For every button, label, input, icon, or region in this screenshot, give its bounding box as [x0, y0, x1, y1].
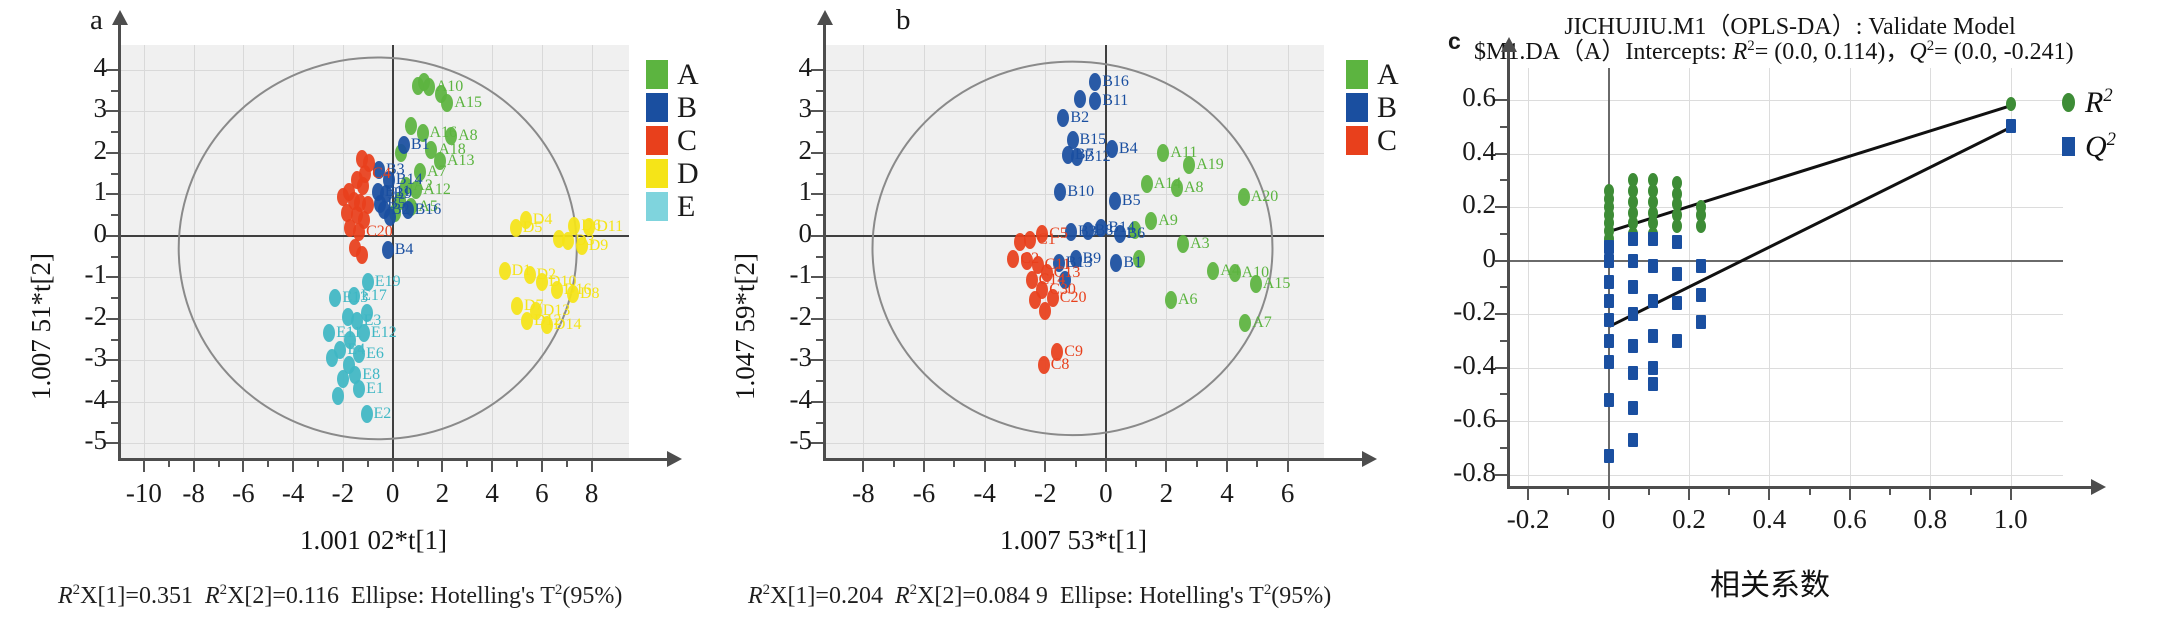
perm-point-Q2 [1604, 355, 1614, 369]
x-axis-arrow [667, 451, 682, 467]
y-tick-label: 0 [744, 218, 812, 249]
regression-line-Q2 [1609, 126, 2012, 328]
y-tick-major [811, 235, 823, 237]
y-tick-label: 2 [39, 135, 107, 166]
perm-point-Q2 [1696, 315, 1706, 329]
x-tick-major [1226, 460, 1228, 472]
y-tick-major [1495, 153, 1507, 155]
data-point-D [510, 219, 522, 237]
grid-line-horizontal [1508, 421, 2063, 422]
y-tick-label: -0.2 [1403, 296, 1496, 327]
panel-b-plot-area: A11A19A14A8A20A9A3A4A10A15A6A7B16B11B2B1… [824, 45, 1324, 460]
hotelling-ellipse [119, 45, 629, 460]
y-tick-label: -1 [39, 259, 107, 290]
y-tick-label: 0.2 [1403, 189, 1496, 220]
y-tick-major [106, 318, 118, 320]
grid-line-vertical [1528, 68, 1529, 488]
perm-point-Q2 [1604, 313, 1614, 327]
data-point-D [562, 232, 574, 250]
y-tick-minor [816, 380, 823, 382]
y-tick-minor [816, 214, 823, 216]
data-point-label: B6 [1127, 226, 1146, 242]
panel-a-legend-swatch-A [646, 60, 668, 89]
data-point-label: A7 [1252, 315, 1272, 331]
perm-point-R2 [1672, 219, 1682, 233]
x-tick-label: 0.8 [1885, 504, 1975, 535]
y-axis-arrow [1501, 37, 1517, 52]
panel-c-intercepts-r-sym: R [1733, 39, 1748, 65]
data-point-label: B11 [1102, 93, 1128, 109]
x-tick-minor [893, 460, 895, 467]
panel-b-caption-r2-post: X[2]=0.084 9 [917, 583, 1048, 609]
panel-a-legend-item-E[interactable]: E [646, 190, 699, 223]
x-tick-major [1849, 488, 1851, 500]
x-tick-minor [1014, 460, 1016, 467]
perm-point-Q2 [1648, 361, 1658, 375]
y-tick-major [811, 359, 823, 361]
x-tick-minor [168, 460, 170, 467]
panel-b: b A11A19A14A8A20A9A3A4A10A15A6A7B16B11B2… [700, 0, 1400, 628]
x-tick-major [862, 460, 864, 472]
y-tick-major [811, 110, 823, 112]
panel-a-legend-item-A[interactable]: A [646, 58, 699, 91]
x-tick-minor [466, 460, 468, 467]
data-point-label: C4 [372, 166, 391, 182]
panel-b-legend-item-B[interactable]: B [1346, 91, 1399, 124]
y-tick-minor [111, 380, 118, 382]
y-tick-label: 4 [744, 52, 812, 83]
y-tick-minor [1500, 286, 1507, 288]
data-point-label: C20 [366, 224, 393, 240]
data-point-B [1095, 219, 1107, 237]
panel-a-caption: R2X[1]=0.351 R2X[2]=0.116 Ellipse: Hotel… [58, 582, 622, 610]
panel-b-legend: ABC [1346, 58, 1399, 157]
y-tick-label: -1 [744, 259, 812, 290]
panel-a-caption-r1-post: X[1]=0.351 [80, 583, 193, 609]
x-tick-label: 0.6 [1805, 504, 1895, 535]
y-tick-label: -5 [39, 425, 107, 456]
panel-b-caption-r2-sup: 2 [910, 582, 917, 598]
grid-line-vertical [1850, 68, 1851, 488]
data-point-C [1038, 356, 1050, 374]
data-point-label: E2 [374, 406, 392, 422]
zero-line-horizontal [1508, 260, 2063, 262]
panel-c-intercepts-r-val: = (0.0, 0.114)， [1755, 39, 1910, 65]
perm-point-Q2 [1628, 280, 1638, 294]
panel-b-caption-r2-sym: R [895, 583, 910, 609]
data-point-C [1039, 302, 1051, 320]
y-tick-major [1495, 206, 1507, 208]
x-axis-line [1507, 486, 2092, 489]
panel-a-caption-ellipse-pre: Ellipse: Hotelling's T [351, 583, 555, 609]
x-tick-minor [1809, 488, 1811, 495]
x-tick-major [1105, 460, 1107, 472]
x-tick-major [1929, 488, 1931, 500]
data-point-D [536, 273, 548, 291]
x-tick-major [923, 460, 925, 472]
data-point-label: A12 [423, 182, 451, 198]
x-tick-major [541, 460, 543, 472]
panel-a-legend-item-C[interactable]: C [646, 124, 699, 157]
grid-line-horizontal [1508, 207, 2063, 208]
panel-c-legend-sup-Q: 2 [2107, 129, 2116, 150]
x-tick-label: 8 [552, 478, 632, 509]
panel-b-legend-swatch-B [1346, 93, 1368, 122]
panel-a-legend-label-C: C [677, 126, 697, 156]
x-tick-minor [417, 460, 419, 467]
data-point-label: D5 [523, 220, 543, 236]
y-tick-major [1495, 367, 1507, 369]
y-tick-major [811, 401, 823, 403]
y-tick-label: -4 [39, 384, 107, 415]
data-point-B [402, 201, 414, 219]
data-point-C [1036, 225, 1048, 243]
x-axis-line [823, 458, 1363, 461]
y-axis-arrow [112, 10, 128, 25]
y-tick-major [811, 193, 823, 195]
y-tick-major [811, 318, 823, 320]
figure-root: a A10A15A16A8A18A13A7A2A12A5B1B3B14B11B9… [0, 0, 2163, 628]
data-point-B [1082, 222, 1094, 240]
y-tick-major [106, 401, 118, 403]
panel-b-caption-r1-sup: 2 [763, 582, 770, 598]
data-point-D [524, 266, 536, 284]
x-tick-minor [953, 460, 955, 467]
x-tick-minor [566, 460, 568, 467]
y-tick-label: -4 [744, 384, 812, 415]
x-tick-minor [267, 460, 269, 467]
data-point-E [361, 405, 373, 423]
perm-point-Q2 [1672, 267, 1682, 281]
panel-c-legend-item-R[interactable]: R2 [2062, 80, 2116, 124]
perm-point-Q2 [1672, 235, 1682, 249]
y-axis-arrow [817, 10, 833, 25]
x-tick-minor [218, 460, 220, 467]
x-tick-minor [1889, 488, 1891, 495]
x-tick-major [1287, 460, 1289, 472]
perm-point-Q2 [1648, 232, 1658, 246]
grid-line-vertical [1689, 68, 1690, 488]
panel-c-plot-area [1508, 68, 2063, 488]
y-tick-label: 2 [744, 135, 812, 166]
data-point-D [576, 237, 588, 255]
grid-line-horizontal [1508, 475, 2063, 476]
x-tick-major [1527, 488, 1529, 500]
data-point-label: A3 [1190, 236, 1210, 252]
perm-point-Q2 [1628, 401, 1638, 415]
perm-point-Q2 [1696, 288, 1706, 302]
y-tick-minor [1500, 179, 1507, 181]
y-tick-major [106, 235, 118, 237]
data-point-C [357, 177, 369, 195]
x-tick-minor [1075, 460, 1077, 467]
data-point-C [1024, 231, 1036, 249]
y-tick-label: -2 [744, 301, 812, 332]
data-point-E [326, 349, 338, 367]
y-tick-major [106, 69, 118, 71]
panel-a-legend-swatch-C [646, 126, 668, 155]
data-point-D [499, 262, 511, 280]
perm-point-Q2 [1672, 296, 1682, 310]
x-tick-label: 0 [1564, 504, 1654, 535]
y-tick-major [1495, 99, 1507, 101]
x-tick-major [984, 460, 986, 472]
y-tick-minor [1500, 393, 1507, 395]
y-tick-major [1495, 474, 1507, 476]
data-point-label: D14 [554, 317, 582, 333]
data-point-D [567, 285, 579, 303]
data-point-A [423, 78, 435, 96]
y-tick-minor [816, 173, 823, 175]
panel-a: a A10A15A16A8A18A13A7A2A12A5B1B3B14B11B9… [0, 0, 720, 628]
panel-a-x-axis-title: 1.001 02*t[1] [300, 525, 447, 556]
data-point-label: B1 [411, 137, 430, 153]
grid-line-horizontal [1508, 314, 2063, 315]
panel-a-legend-item-B[interactable]: B [646, 91, 699, 124]
grid-line-horizontal [1508, 368, 2063, 369]
panel-c-intercepts-r-sup: 2 [1747, 38, 1754, 54]
data-point-label: E1 [366, 381, 384, 397]
perm-point-Q2 [1604, 294, 1614, 308]
data-point-label: C20 [1060, 290, 1087, 306]
y-tick-label: -3 [39, 342, 107, 373]
data-point-A [1238, 188, 1250, 206]
x-tick-major [342, 460, 344, 472]
perm-point-Q2 [1628, 366, 1638, 380]
panel-a-plot-area: A10A15A16A8A18A13A7A2A12A5B1B3B14B11B9B5… [119, 45, 629, 460]
y-tick-minor [111, 297, 118, 299]
data-point-label: B10 [1067, 184, 1094, 200]
regression-line-R2 [1609, 104, 2012, 233]
perm-point-Q2 [1672, 334, 1682, 348]
y-tick-minor [1500, 447, 1507, 449]
panel-a-legend-swatch-E [646, 192, 668, 221]
panel-a-letter: a [90, 4, 103, 37]
x-tick-major [2010, 488, 2012, 500]
y-tick-major [1495, 420, 1507, 422]
panel-a-legend-item-D[interactable]: D [646, 157, 699, 190]
panel-a-caption-r2x1-sym: R [58, 583, 73, 609]
data-point-B [1109, 192, 1121, 210]
y-tick-major [1495, 260, 1507, 262]
data-point-label: E12 [371, 325, 397, 341]
perm-point-Q2 [1628, 254, 1638, 268]
panel-b-x-axis-title: 1.007 53*t[1] [1000, 525, 1147, 556]
perm-point-Q2 [1628, 232, 1638, 246]
x-tick-label: 0.4 [1724, 504, 1814, 535]
y-axis-line [823, 23, 826, 460]
x-tick-minor [1135, 460, 1137, 467]
x-tick-minor [317, 460, 319, 467]
perm-point-Q2 [1648, 294, 1658, 308]
data-point-B [382, 241, 394, 259]
y-tick-label: -3 [744, 342, 812, 373]
panel-c-letter: c [1448, 28, 1461, 55]
data-point-label: D8 [580, 286, 600, 302]
data-point-A [1250, 275, 1262, 293]
y-tick-major [106, 193, 118, 195]
data-point-E [342, 308, 354, 326]
x-tick-major [242, 460, 244, 472]
data-point-label: C8 [1051, 357, 1070, 373]
panel-c-title-line2: $M1.DA（A）Intercepts: R2= (0.0, 0.114)，Q2… [1474, 31, 2114, 66]
panel-c-x-axis-title: 相关系数 [1710, 560, 1830, 604]
y-tick-minor [111, 422, 118, 424]
y-tick-label: -5 [744, 425, 812, 456]
y-tick-label: 0.6 [1403, 82, 1496, 113]
perm-point-Q2 [1648, 377, 1658, 391]
x-tick-major [1044, 460, 1046, 472]
perm-point-Q2 [1604, 275, 1614, 289]
y-tick-major [811, 442, 823, 444]
y-tick-label: 0 [39, 218, 107, 249]
perm-point-Q2 [1604, 449, 1614, 463]
panel-a-legend-swatch-D [646, 159, 668, 188]
data-point-label: B4 [1119, 141, 1138, 157]
panel-b-legend-label-C: C [1377, 126, 1397, 156]
y-tick-label: 0.4 [1403, 136, 1496, 167]
y-axis-line [118, 23, 121, 460]
panel-b-legend-item-C[interactable]: C [1346, 124, 1399, 157]
data-point-D [551, 281, 563, 299]
x-tick-major [143, 460, 145, 472]
panel-a-legend-label-E: E [677, 192, 695, 222]
y-tick-label: 3 [39, 93, 107, 124]
panel-b-caption-ellipse-post: (95%) [1271, 583, 1331, 609]
panel-b-legend-swatch-A [1346, 60, 1368, 89]
panel-b-legend-swatch-C [1346, 126, 1368, 155]
y-tick-minor [816, 90, 823, 92]
y-tick-major [1495, 313, 1507, 315]
panel-a-legend-swatch-B [646, 93, 668, 122]
panel-a-caption-r2-post: X[2]=0.116 [227, 583, 339, 609]
y-tick-label: 1 [744, 176, 812, 207]
data-point-D [521, 312, 533, 330]
data-point-label: B16 [415, 202, 442, 218]
x-tick-minor [1567, 488, 1569, 495]
panel-a-legend-label-D: D [677, 159, 699, 189]
x-tick-major [441, 460, 443, 472]
panel-a-legend-label-A: A [677, 60, 699, 90]
data-point-label: A15 [1263, 276, 1291, 292]
y-tick-minor [816, 297, 823, 299]
panel-b-legend-item-A[interactable]: A [1346, 58, 1399, 91]
x-tick-minor [367, 460, 369, 467]
y-tick-minor [1500, 233, 1507, 235]
grid-line-horizontal [1508, 100, 2063, 101]
panel-b-legend-label-A: A [1377, 60, 1399, 90]
y-tick-label: 3 [744, 93, 812, 124]
y-tick-label: -0.8 [1403, 457, 1496, 488]
perm-point-R2 [2006, 97, 2016, 111]
y-tick-minor [111, 214, 118, 216]
data-point-label: E6 [366, 346, 384, 362]
panel-a-caption-r2-sup: 2 [220, 582, 227, 598]
data-point-B [1106, 140, 1118, 158]
panel-b-caption-r1-sym: R [748, 583, 763, 609]
x-tick-minor [1648, 488, 1650, 495]
data-point-label: B9 [1083, 251, 1102, 267]
data-point-label: B16 [1102, 74, 1129, 90]
perm-point-Q2 [2006, 119, 2016, 133]
x-tick-label: 1.0 [1966, 504, 2056, 535]
panel-c-legend: R2Q2 [2062, 80, 2116, 168]
y-tick-minor [111, 339, 118, 341]
panel-a-caption-r1-sup: 2 [73, 582, 80, 598]
y-axis-line [1507, 50, 1510, 488]
perm-point-Q2 [1604, 393, 1614, 407]
panel-b-letter: b [896, 4, 911, 37]
x-tick-major [491, 460, 493, 472]
panel-a-caption-ellipse-post: (95%) [562, 583, 622, 609]
panel-c-legend-mark-R [2062, 93, 2075, 112]
perm-point-Q2 [1628, 339, 1638, 353]
y-tick-label: -2 [39, 301, 107, 332]
data-point-D [541, 316, 553, 334]
panel-c-legend-label-R: R2 [2085, 85, 2113, 120]
panel-c-intercepts-q-sym: Q [1909, 39, 1926, 65]
panel-c-legend-mark-Q [2062, 137, 2075, 156]
perm-point-Q2 [1628, 307, 1638, 321]
y-tick-minor [111, 173, 118, 175]
x-tick-label: -0.2 [1483, 504, 1573, 535]
y-tick-minor [111, 256, 118, 258]
perm-point-Q2 [1628, 433, 1638, 447]
data-point-C [337, 188, 349, 206]
y-tick-label: -0.6 [1403, 403, 1496, 434]
perm-point-Q2 [1604, 254, 1614, 268]
data-point-label: B2 [1070, 110, 1089, 126]
y-tick-label: -0.4 [1403, 350, 1496, 381]
x-tick-minor [1256, 460, 1258, 467]
y-tick-major [811, 152, 823, 154]
perm-point-Q2 [1648, 329, 1658, 343]
data-point-label: A20 [1251, 189, 1279, 205]
panel-b-caption: R2X[1]=0.204 R2X[2]=0.084 9 Ellipse: Hot… [748, 582, 1331, 610]
data-point-label: B1 [1123, 255, 1142, 271]
panel-c: JICHUJIU.M1（OPLS-DA）: Validate Model c $… [1400, 0, 2163, 628]
data-point-C [356, 246, 368, 264]
data-point-label: B5 [1122, 193, 1141, 209]
data-point-label: A6 [1178, 292, 1198, 308]
data-point-B [1074, 90, 1086, 108]
x-tick-major [1165, 460, 1167, 472]
panel-b-caption-r1-post: X[1]=0.204 [770, 583, 883, 609]
y-tick-minor [111, 90, 118, 92]
x-tick-label: 0.2 [1644, 504, 1734, 535]
panel-a-legend-label-B: B [677, 93, 697, 123]
perm-point-Q2 [1648, 259, 1658, 273]
panel-c-intercepts-q-val: = (0.0, -0.241) [1934, 39, 2074, 65]
y-tick-minor [1500, 340, 1507, 342]
data-point-E [332, 387, 344, 405]
x-tick-major [591, 460, 593, 472]
panel-a-caption-r2-sym: R [205, 583, 220, 609]
x-tick-major [1608, 488, 1610, 500]
y-tick-major [106, 110, 118, 112]
data-point-C [353, 223, 365, 241]
x-tick-major [1768, 488, 1770, 500]
data-point-E [337, 370, 349, 388]
data-point-A [1229, 264, 1241, 282]
data-point-label: D9 [589, 238, 609, 254]
panel-c-legend-item-Q[interactable]: Q2 [2062, 124, 2116, 168]
y-tick-label: 4 [39, 52, 107, 83]
perm-point-Q2 [1604, 240, 1614, 254]
data-point-label: B4 [395, 242, 414, 258]
y-tick-major [106, 442, 118, 444]
y-tick-label: 0 [1403, 243, 1496, 274]
